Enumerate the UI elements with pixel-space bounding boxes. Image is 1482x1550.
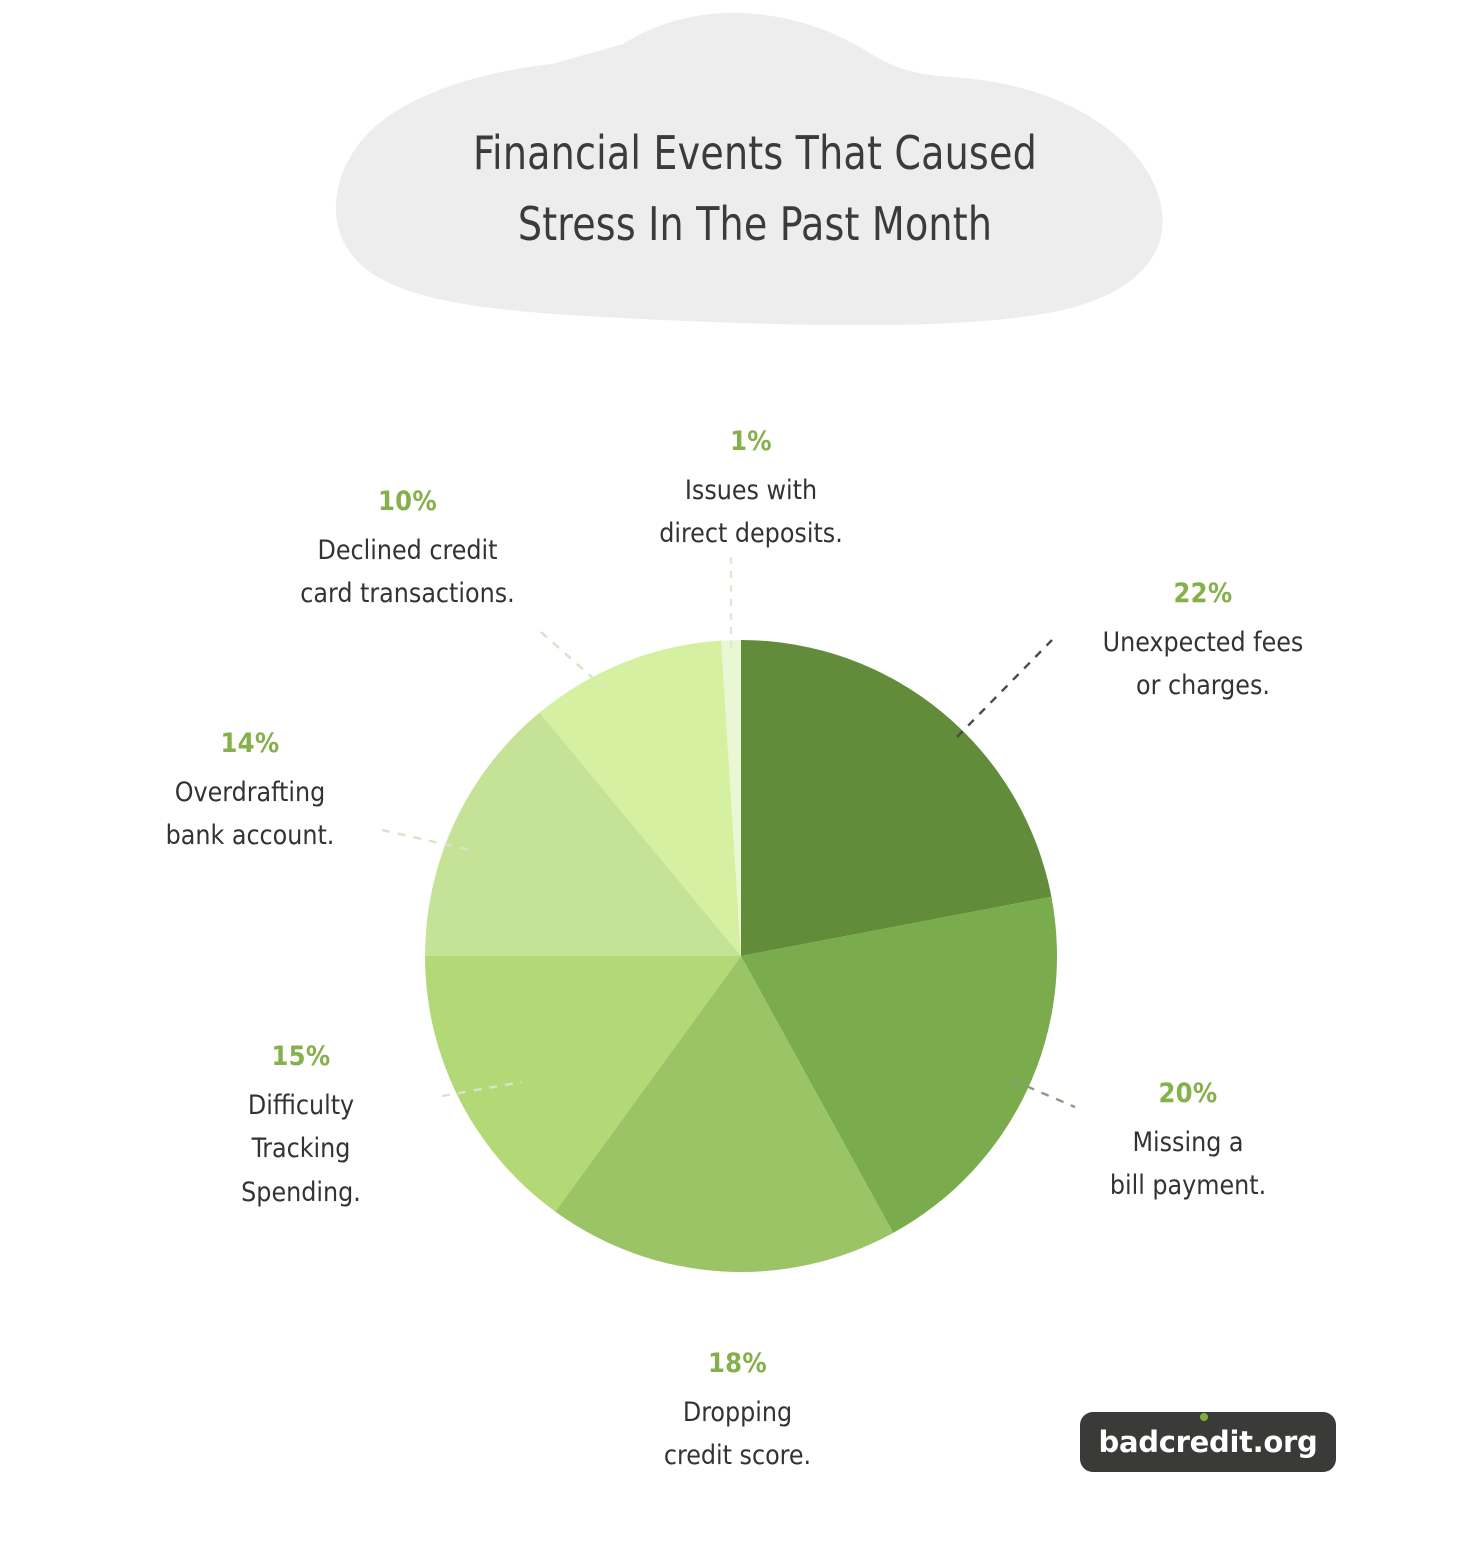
callout-missing-bill-payment: 20% Missing a bill payment. bbox=[1048, 1072, 1328, 1208]
callout-percent: 18% bbox=[600, 1342, 875, 1387]
callout-overdrafting-bank-account: 14% Overdrafting bank account. bbox=[125, 722, 375, 858]
callout-label: Unexpected fees or charges. bbox=[1058, 621, 1348, 708]
pie-slice-group bbox=[425, 640, 1057, 1272]
callout-label: Overdrafting bank account. bbox=[125, 771, 375, 858]
callout-difficulty-tracking-spending: 15% Difficulty Tracking Spending. bbox=[176, 1035, 426, 1215]
callout-percent: 14% bbox=[125, 722, 375, 767]
callout-label: Declined credit card transactions. bbox=[260, 529, 555, 616]
callout-unexpected-fees: 22% Unexpected fees or charges. bbox=[1058, 572, 1348, 708]
logo-accent-dot bbox=[1200, 1413, 1208, 1421]
callout-percent: 15% bbox=[176, 1035, 426, 1080]
callout-direct-deposits: 1% Issues with direct deposits. bbox=[596, 420, 906, 556]
callout-label: Issues with direct deposits. bbox=[596, 469, 906, 556]
callout-dropping-credit-score: 18% Dropping credit score. bbox=[600, 1342, 875, 1478]
callout-label: Dropping credit score. bbox=[600, 1391, 875, 1478]
badcredit-logo-badge[interactable]: badcredit.org bbox=[1080, 1412, 1336, 1472]
infographic-canvas: Financial Events That Caused Stress In T… bbox=[0, 0, 1482, 1550]
callout-percent: 22% bbox=[1058, 572, 1348, 617]
callout-percent: 1% bbox=[596, 420, 906, 465]
callout-declined-credit-card-transactions: 10% Declined credit card transactions. bbox=[260, 480, 555, 616]
callout-percent: 10% bbox=[260, 480, 555, 525]
callout-label: Missing a bill payment. bbox=[1048, 1121, 1328, 1208]
logo-text: badcredit.org bbox=[1099, 1425, 1318, 1459]
pie-chart bbox=[425, 640, 1057, 1272]
page-title: Financial Events That Caused Stress In T… bbox=[392, 118, 1119, 260]
callout-label: Difficulty Tracking Spending. bbox=[176, 1084, 426, 1215]
callout-percent: 20% bbox=[1048, 1072, 1328, 1117]
